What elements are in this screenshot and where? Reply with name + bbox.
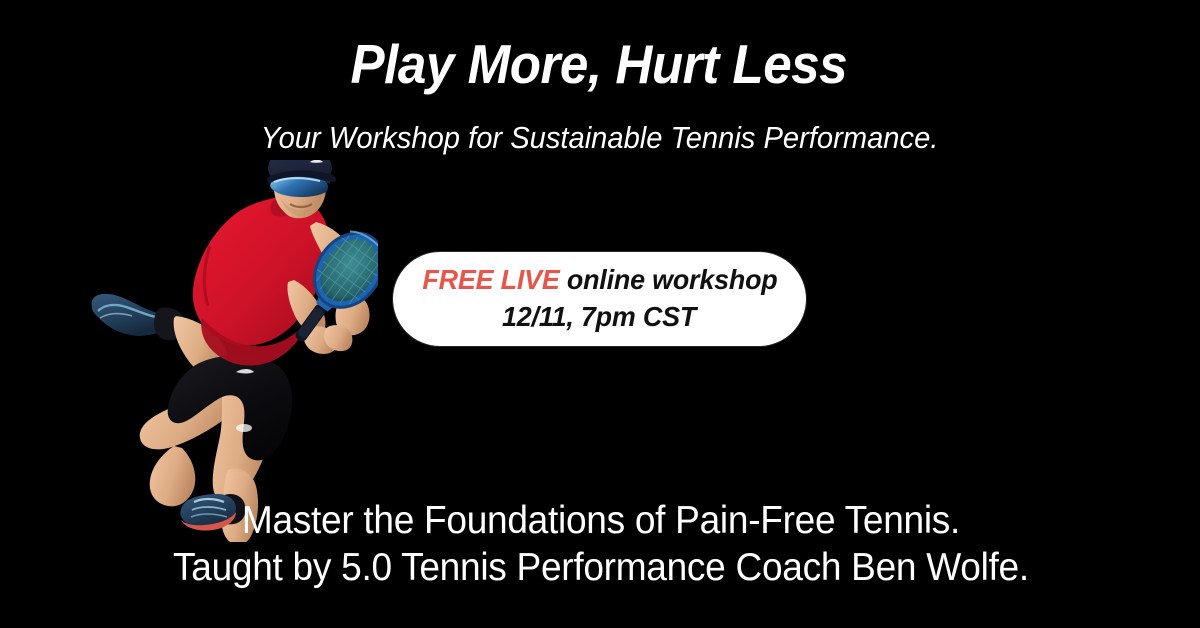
footer-line-1: Master the Foundations of Pain-Free Tenn… bbox=[31, 497, 1171, 544]
badge-datetime-label: 12/11, 7pm CST bbox=[502, 299, 696, 336]
badge-free-live-label: FREE LIVE bbox=[422, 264, 559, 295]
badge-line-1: FREE LIVE online workshop bbox=[422, 262, 777, 299]
page-title: Play More, Hurt Less bbox=[41, 36, 1157, 94]
badge-online-workshop-label: online workshop bbox=[559, 264, 777, 295]
tennis-player-photo bbox=[78, 160, 378, 542]
footer-line-2: Taught by 5.0 Tennis Performance Coach B… bbox=[31, 544, 1171, 591]
promo-poster: Play More, Hurt Less Your Workshop for S… bbox=[0, 0, 1200, 628]
footer-copy: Master the Foundations of Pain-Free Tenn… bbox=[31, 497, 1171, 591]
workshop-badge: FREE LIVE online workshop 12/11, 7pm CST bbox=[393, 252, 806, 346]
page-subtitle: Your Workshop for Sustainable Tennis Per… bbox=[36, 120, 1164, 156]
